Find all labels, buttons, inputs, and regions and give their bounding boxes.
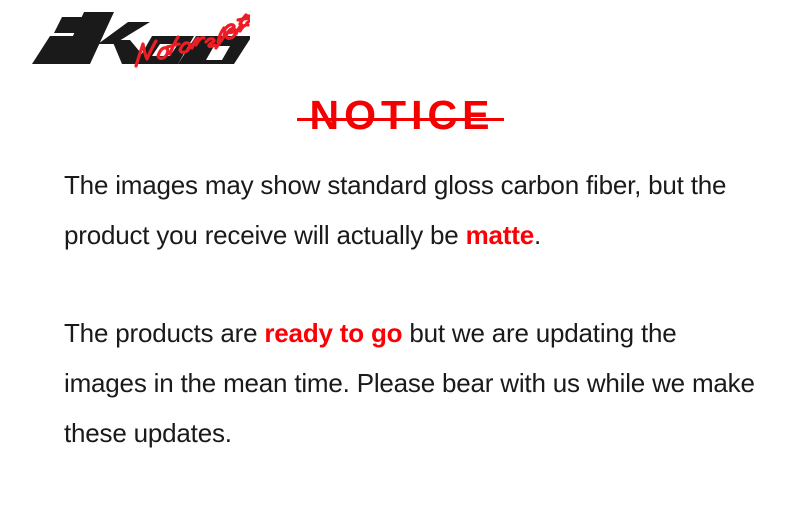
notice-body: The images may show standard gloss carbo… xyxy=(64,160,764,458)
title-underline xyxy=(297,118,504,121)
notice-paragraph-1: The images may show standard gloss carbo… xyxy=(64,160,764,260)
paragraph-2-highlight-ready-to-go: ready to go xyxy=(264,318,402,348)
paragraph-1-text-part-1: The images may show standard gloss carbo… xyxy=(64,170,726,250)
paragraph-1-text-part-2: . xyxy=(534,220,541,250)
ikon-wordmark-icon xyxy=(32,12,250,64)
notice-page: ikon Motorsports NOTICE The images may s… xyxy=(0,0,800,510)
notice-paragraph-2: The products are ready to go but we are … xyxy=(64,308,764,458)
brand-logo: ikon Motorsports xyxy=(0,0,250,75)
paragraph-2-text-part-1: The products are xyxy=(64,318,264,348)
paragraph-1-highlight-matte: matte xyxy=(466,220,534,250)
